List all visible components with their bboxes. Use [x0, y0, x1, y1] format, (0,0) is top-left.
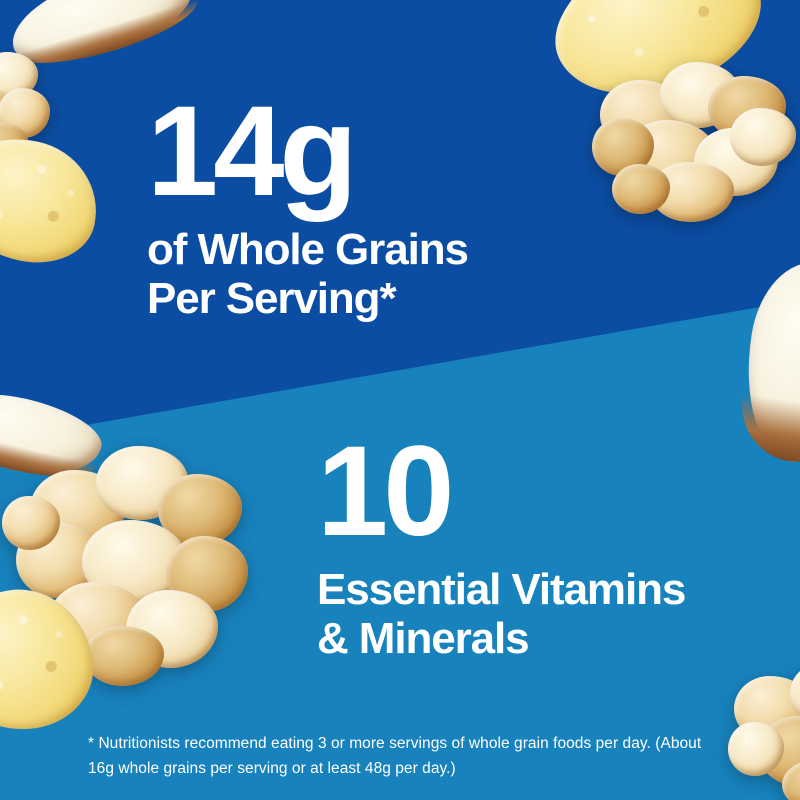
- stat-label-vitamins-line2: & Minerals: [317, 614, 685, 663]
- stat-block-whole-grains: 14g of Whole Grains Per Serving*: [147, 97, 468, 324]
- stat-number-vitamins: 10: [317, 437, 685, 547]
- stat-number-whole-grains: 14g: [147, 97, 468, 207]
- promo-banner: 14g of Whole Grains Per Serving* 10 Esse…: [0, 0, 800, 800]
- stat-label-whole-grains-line2: Per Serving*: [147, 274, 468, 323]
- stat-block-vitamins: 10 Essential Vitamins & Minerals: [317, 437, 685, 664]
- footnote-disclaimer: * Nutritionists recommend eating 3 or mo…: [88, 731, 728, 781]
- stat-label-whole-grains-line1: of Whole Grains: [147, 225, 468, 274]
- stat-label-vitamins-line1: Essential Vitamins: [317, 565, 685, 614]
- granola-cluster-bottom-right: [728, 660, 800, 800]
- granola-cluster-top-right: [590, 58, 800, 228]
